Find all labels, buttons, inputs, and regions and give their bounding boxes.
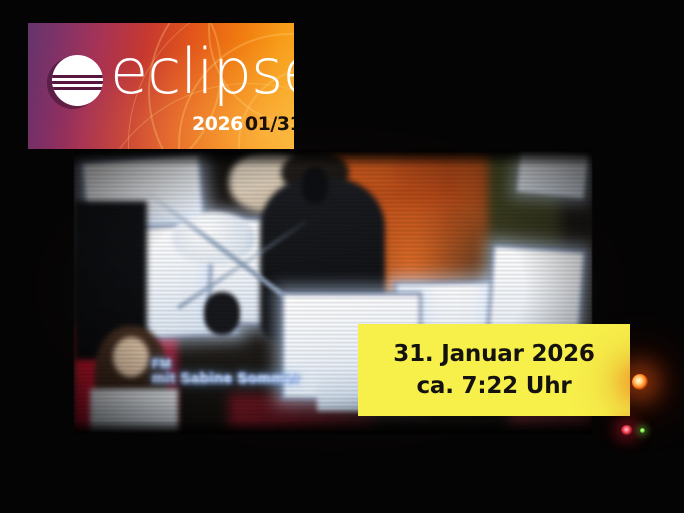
date-annotation-box: 31. Januar 2026 ca. 7:22 Uhr [358,324,630,416]
screen-bottom-shade [74,420,592,434]
eclipse-bar-3 [52,87,103,90]
microphone-icon [302,167,328,204]
eclipse-version-release: 01/31 [245,113,294,135]
green-led-icon [640,428,645,433]
eclipse-circle-icon [47,55,103,111]
eclipse-bar-2 [52,81,103,84]
person-face-left [113,337,149,377]
eclipse-bar-1 [52,75,103,78]
eclipse-version-label: 202601/31 [192,113,294,135]
orange-led-icon [632,374,648,390]
eclipse-version-year: 2026 [192,113,243,135]
screenshot-root: FM mit Sabine Sommer eclipse 202601/31 [0,0,684,513]
screen-top-shade [74,150,592,167]
red-led-icon [621,425,633,435]
eclipse-wordmark: eclipse [110,41,294,103]
microphone-icon-2 [204,292,240,335]
eclipse-disc [52,55,103,106]
annotation-time-line: ca. 7:22 Uhr [416,373,571,399]
annotation-date-line: 31. Januar 2026 [393,341,594,367]
eclipse-splash-banner: eclipse 202601/31 [28,23,294,149]
